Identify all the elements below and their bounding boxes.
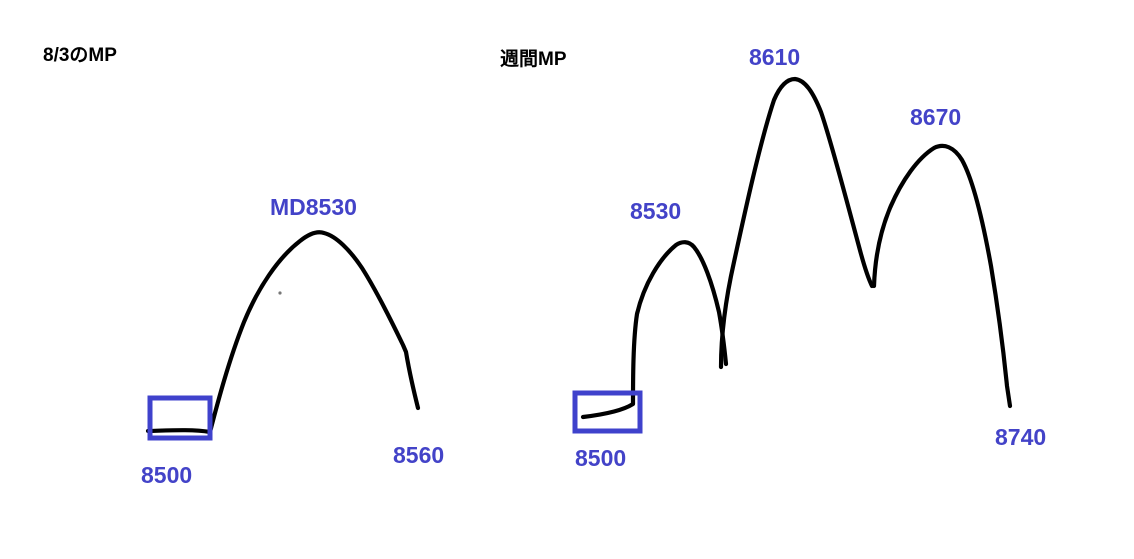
right-start-label: 8500 [575,445,626,472]
right-end-label: 8740 [995,424,1046,451]
right-curve-hump-3 [874,146,1010,406]
right-peak1-label: 8530 [630,198,681,225]
right-peak3-label: 8670 [910,104,961,131]
right-curve-hump-2 [721,79,872,367]
screenshot-canvas: 8/3のMP MD8530 8500 8560 週間MP 8530 8610 8… [0,0,1134,559]
right-peak2-label: 8610 [749,44,800,71]
right-chart-curve [0,0,1134,559]
